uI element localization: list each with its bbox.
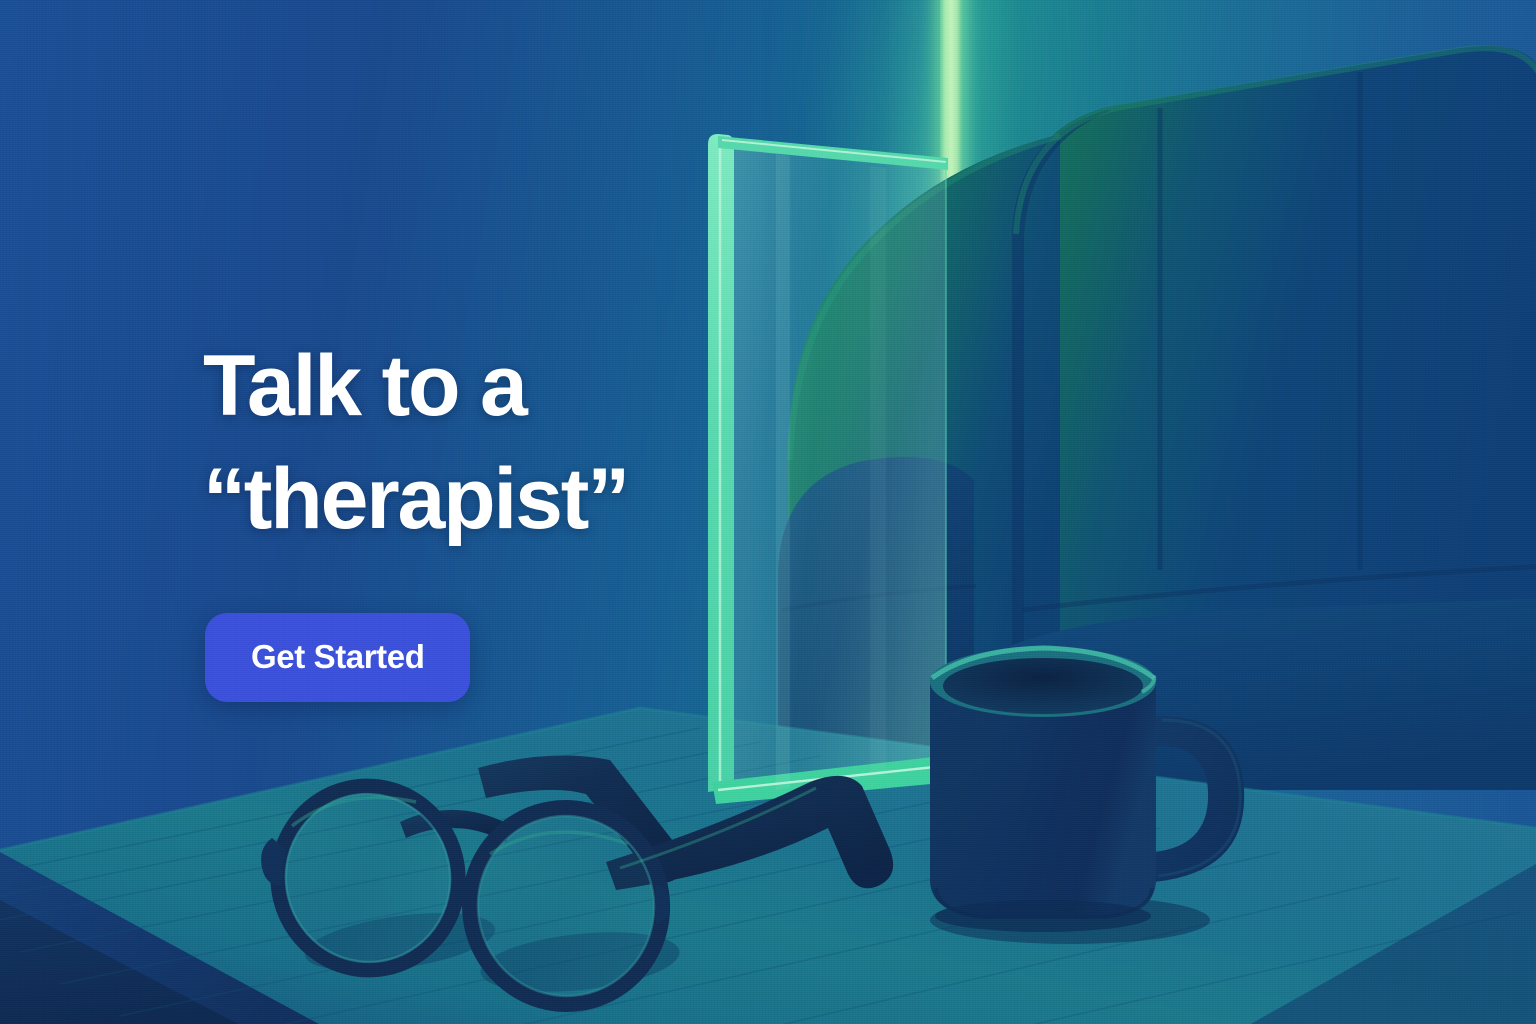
coffee-mug [910,620,1290,960]
eyeglasses [250,730,900,1010]
page-title: Talk to a “therapist” [203,330,823,556]
glass-panel-reflection-2 [870,166,886,776]
mug-body-shading [930,682,1020,918]
mug-interior [943,658,1143,714]
get-started-button[interactable]: Get Started [205,613,470,702]
headline-line-2: “therapist” [203,443,823,556]
headline-line-1: Talk to a [203,338,526,434]
eyeglasses-shape [250,730,910,1020]
mug-handle [1154,716,1244,882]
coffee-mug-shape [910,620,1300,970]
hero-copy: Talk to a “therapist” Get Started [203,330,823,702]
hero-scene: Talk to a “therapist” Get Started [0,0,1536,1024]
mug-base [935,900,1151,932]
